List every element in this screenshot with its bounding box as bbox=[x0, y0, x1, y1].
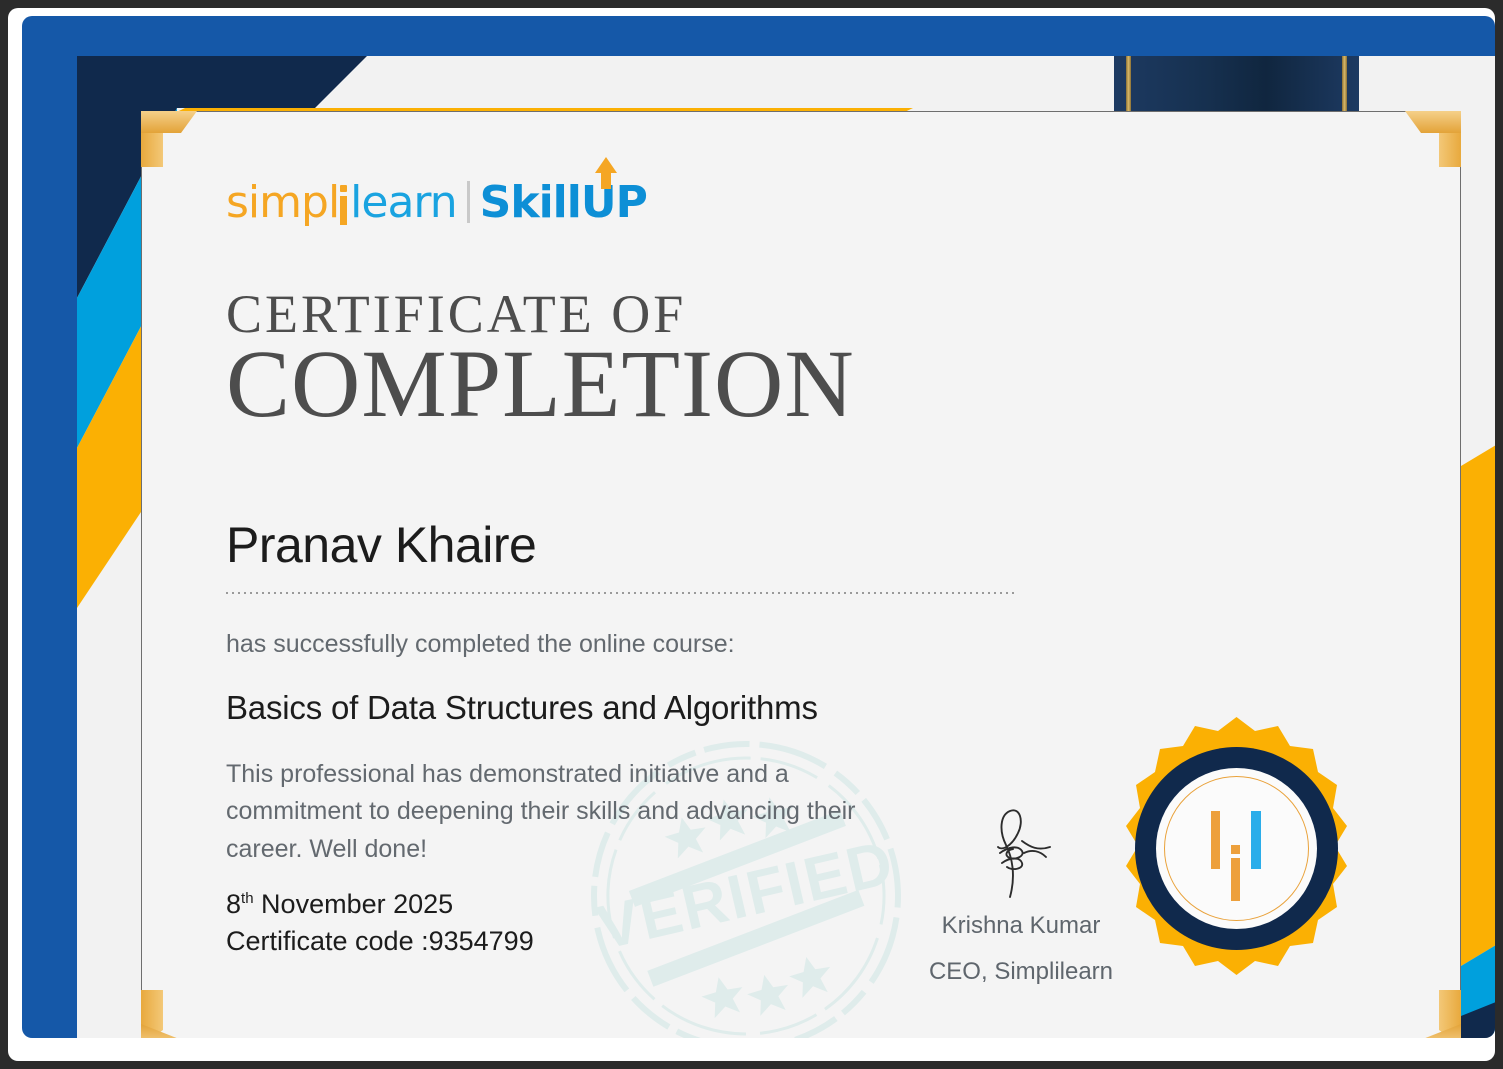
issue-date: 8th November 2025 bbox=[226, 886, 534, 923]
logo-text-skillup: SkillUP bbox=[480, 177, 647, 228]
certificate-code: Certificate code :9354799 bbox=[226, 923, 534, 960]
certificate-paper: VERIFIED simpl learn SkillUP bbox=[8, 8, 1495, 1061]
logo-i-mark-icon bbox=[340, 179, 349, 225]
recipient-divider bbox=[226, 592, 1016, 594]
simplilearn-seal-icon bbox=[1099, 711, 1374, 986]
up-arrow-icon bbox=[595, 157, 617, 173]
logo-text-learn: learn bbox=[350, 177, 456, 228]
verified-watermark: VERIFIED bbox=[548, 698, 944, 1038]
simplilearn-skillup-logo: simpl learn SkillUP bbox=[226, 176, 647, 228]
seal-simplilearn-mark-icon bbox=[1211, 811, 1263, 901]
page-title-line2: COMPLETION bbox=[226, 331, 855, 437]
completion-lead-text: has successfully completed the online co… bbox=[226, 630, 735, 659]
inner-sheet: VERIFIED simpl learn SkillUP bbox=[77, 56, 1495, 1038]
commendation-text: This professional has demonstrated initi… bbox=[226, 756, 896, 868]
course-title: Basics of Data Structures and Algorithms bbox=[226, 689, 818, 727]
decor-wedge-top-left bbox=[77, 56, 367, 108]
recipient-name: Pranav Khaire bbox=[226, 516, 536, 574]
outer-blue-frame: VERIFIED simpl learn SkillUP bbox=[22, 16, 1495, 1038]
certificate-page: VERIFIED simpl learn SkillUP bbox=[0, 0, 1503, 1069]
logo-divider bbox=[467, 181, 470, 223]
logo-text-simpl: simpl bbox=[226, 177, 339, 228]
issue-details: 8th November 2025 Certificate code :9354… bbox=[226, 886, 534, 959]
